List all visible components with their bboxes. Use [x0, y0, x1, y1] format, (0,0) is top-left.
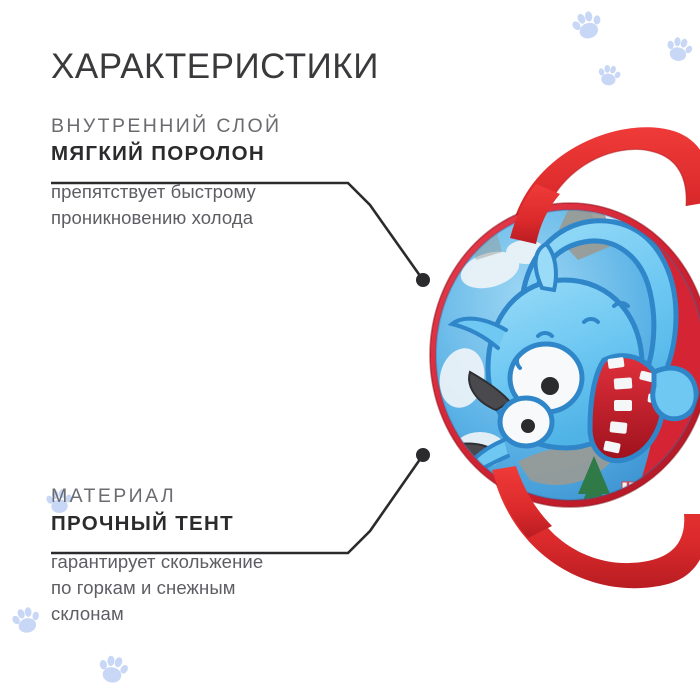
feature-description-line: гарантирует скольжение [51, 549, 381, 575]
page-title: ХАРАКТЕРИСТИКИ [51, 46, 379, 88]
feature-description-insulation: препятствует быстрому проникновению холо… [51, 179, 381, 231]
feature-description-line: склонам [51, 601, 381, 627]
infographic-canvas: ХАРАКТЕРИСТИКИ ВНУТРЕННИЙ СЛОЙ МЯГКИЙ ПО… [0, 0, 700, 700]
feature-kicker-insulation: ВНУТРЕННИЙ СЛОЙ [51, 113, 381, 139]
paw-print-icon [93, 649, 132, 688]
product-image-snow-tube [418, 110, 700, 590]
feature-block-material: МАТЕРИАЛ ПРОЧНЫЙ ТЕНТ гарантирует скольж… [51, 483, 381, 627]
dragon-paw [653, 368, 696, 419]
feature-description-line: препятствует быстрому [51, 179, 381, 205]
paw-print-icon [566, 4, 609, 47]
feature-description-material: гарантирует скольжение по горкам и снежн… [51, 549, 381, 627]
feature-headline-material: ПРОЧНЫЙ ТЕНТ [51, 510, 381, 537]
snow-tube-illustration [418, 110, 700, 590]
paw-print-icon [594, 60, 623, 89]
feature-description-line: по горкам и снежным [51, 575, 381, 601]
paw-print-icon [661, 31, 697, 67]
feature-description-line: проникновению холода [51, 205, 381, 231]
paw-print-icon [7, 601, 46, 640]
feature-kicker-material: МАТЕРИАЛ [51, 483, 381, 509]
feature-block-insulation: ВНУТРЕННИЙ СЛОЙ МЯГКИЙ ПОРОЛОН препятств… [51, 113, 381, 231]
feature-headline-insulation: МЯГКИЙ ПОРОЛОН [51, 140, 381, 167]
